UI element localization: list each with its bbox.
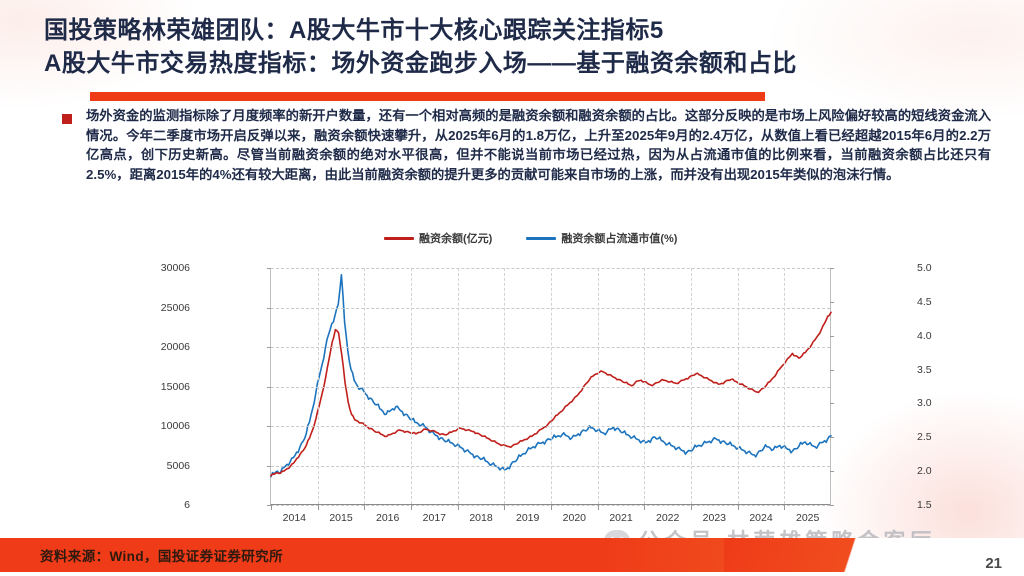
legend-item-financing-balance: 融资余额(亿元): [384, 230, 492, 246]
chart-tick-x: [598, 505, 599, 510]
chart-gridline-v: [644, 268, 645, 504]
chart-tick-x: [784, 505, 785, 510]
page-number: 21: [985, 555, 1002, 572]
chart-xtick-label: 2014: [283, 512, 306, 524]
chart-gridline-v: [504, 268, 505, 504]
chart-ytick-label-right: 3.5: [917, 364, 957, 376]
source-citation: 资料来源：Wind，国投证券证券研究所: [40, 545, 283, 565]
chart-gridline-v: [458, 268, 459, 504]
chart-ytick-label-right: 1.5: [917, 499, 957, 511]
chart-ytick-label-right: 4.0: [917, 330, 957, 342]
chart-tick-x: [364, 505, 365, 510]
page-title-line-1: 国投策略林荣雄团队：A股大牛市十大核心跟踪关注指标5: [44, 14, 994, 47]
chart-tick-x: [644, 505, 645, 510]
body-paragraph-text: 场外资金的监测指标除了月度频率的新开户数量，还有一个相对高频的是融资余额和融资余…: [86, 106, 991, 184]
chart-xtick-label: 2025: [796, 512, 819, 524]
title-underline-rule: [90, 92, 765, 101]
chart-tick-right: [830, 505, 834, 506]
chart-ytick-label-left: 25006: [130, 302, 190, 314]
chart-tick-left: [267, 426, 271, 427]
chart-tick-right: [830, 268, 834, 269]
chart-xtick-label: 2020: [563, 512, 586, 524]
chart-tick-x: [504, 505, 505, 510]
chart-tick-right: [830, 302, 834, 303]
chart-gridline-v: [364, 268, 365, 504]
chart-gridline-v: [691, 268, 692, 504]
chart-tick-right: [830, 471, 834, 472]
chart-plot-area: 6500610006150062000625006300061.52.02.53…: [270, 268, 830, 505]
chart-ytick-label-right: 2.0: [917, 465, 957, 477]
slide-title-block: 国投策略林荣雄团队：A股大牛市十大核心跟踪关注指标5 A股大牛市交易热度指标：场…: [44, 14, 994, 80]
chart-tick-left: [267, 268, 271, 269]
chart-legend: 融资余额(亿元) 融资余额占流通市值(%): [384, 230, 677, 246]
chart-tick-left: [267, 466, 271, 467]
chart-xtick-label: 2021: [609, 512, 632, 524]
chart-tick-left: [267, 387, 271, 388]
chart-tick-right: [830, 370, 834, 371]
legend-label-financing-share: 融资余额占流通市值(%): [561, 230, 677, 246]
chart-xtick-label: 2016: [376, 512, 399, 524]
chart-tick-right: [830, 403, 834, 404]
chart-tick-x: [458, 505, 459, 510]
legend-swatch-red: [384, 237, 414, 240]
chart-ytick-label-right: 4.5: [917, 296, 957, 308]
body-paragraph-block: 场外资金的监测指标除了月度频率的新开户数量，还有一个相对高频的是融资余额和融资余…: [62, 106, 1002, 184]
chart-tick-x: [691, 505, 692, 510]
chart-gridline-v: [598, 268, 599, 504]
chart-container: 融资余额(亿元) 融资余额占流通市值(%) 650061000615006200…: [196, 224, 896, 524]
chart-xtick-label: 2024: [749, 512, 772, 524]
chart-ytick-label-right: 2.5: [917, 431, 957, 443]
chart-tick-left: [267, 308, 271, 309]
chart-xtick-label: 2022: [656, 512, 679, 524]
chart-xtick-label: 2018: [469, 512, 492, 524]
chart-ytick-label-left: 20006: [130, 341, 190, 353]
chart-ytick-label-right: 5.0: [917, 262, 957, 274]
chart-tick-x: [551, 505, 552, 510]
chart-ytick-label-left: 15006: [130, 381, 190, 393]
chart-gridline-v: [551, 268, 552, 504]
chart-gridline-v: [318, 268, 319, 504]
chart-tick-x: [738, 505, 739, 510]
chart-tick-right: [830, 336, 834, 337]
chart-gridline-v: [784, 268, 785, 504]
chart-ytick-label-left: 10006: [130, 420, 190, 432]
chart-ytick-label-left: 30006: [130, 262, 190, 274]
chart-ytick-label-left: 6: [130, 499, 190, 511]
red-square-bullet-icon: [62, 114, 72, 124]
legend-swatch-blue: [526, 237, 556, 240]
legend-label-financing-balance: 融资余额(亿元): [419, 230, 492, 246]
page-title-line-2: A股大牛市交易热度指标：场外资金跑步入场——基于融资余额和占比: [44, 47, 994, 80]
chart-gridline-v: [411, 268, 412, 504]
chart-gridline-v: [738, 268, 739, 504]
chart-xtick-label: 2019: [516, 512, 539, 524]
chart-tick-x: [271, 505, 272, 510]
chart-xtick-label: 2023: [703, 512, 726, 524]
chart-xtick-label: 2015: [329, 512, 352, 524]
legend-item-financing-share: 融资余额占流通市值(%): [526, 230, 677, 246]
chart-ytick-label-left: 5006: [130, 460, 190, 472]
chart-ytick-label-right: 3.0: [917, 397, 957, 409]
chart-tick-right: [830, 437, 834, 438]
chart-tick-x: [411, 505, 412, 510]
chart-xtick-label: 2017: [423, 512, 446, 524]
chart-tick-left: [267, 347, 271, 348]
chart-tick-x: [318, 505, 319, 510]
